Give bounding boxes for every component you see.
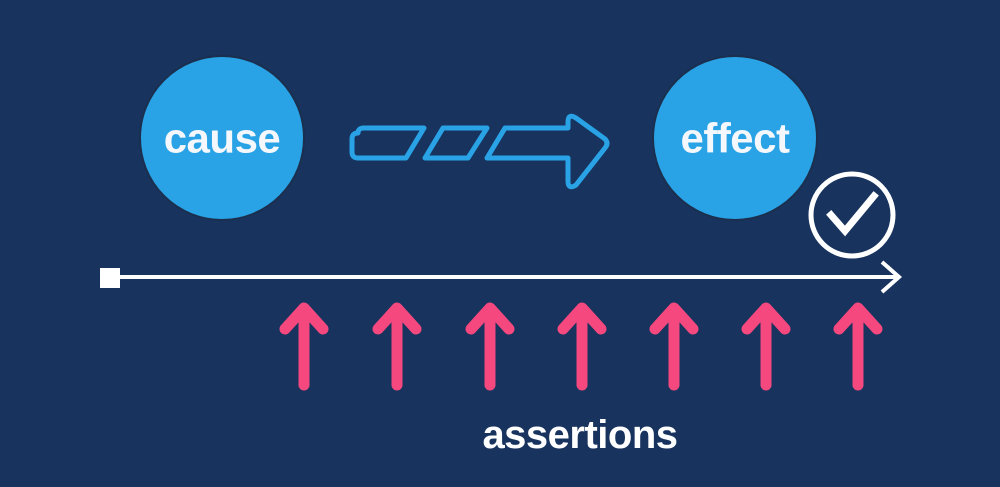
assertions-caption: assertions — [482, 413, 677, 457]
cause-effect-assertions-diagram: cause effect — [0, 0, 1000, 487]
node-effect[interactable]: effect — [653, 56, 817, 220]
effect-label: effect — [680, 115, 790, 162]
diagram-canvas: cause effect — [0, 0, 1000, 487]
node-cause[interactable]: cause — [140, 56, 304, 220]
cause-label: cause — [164, 115, 281, 162]
